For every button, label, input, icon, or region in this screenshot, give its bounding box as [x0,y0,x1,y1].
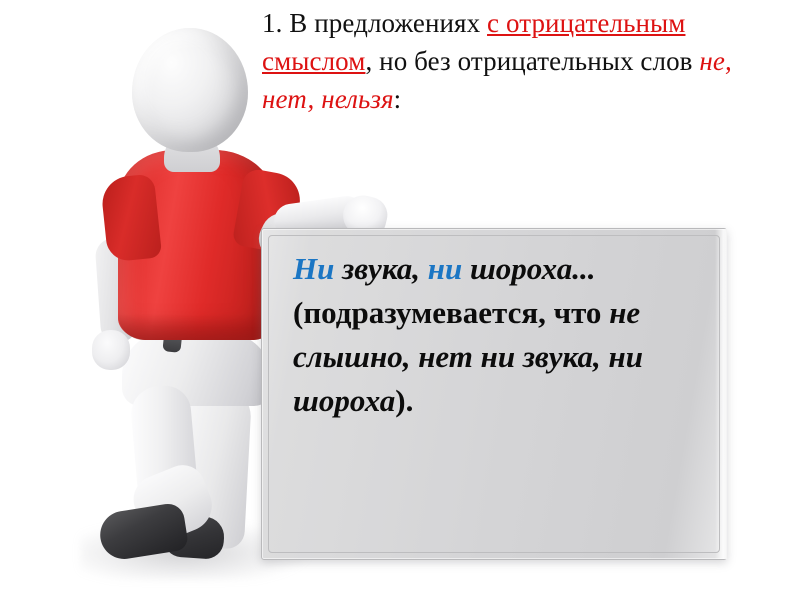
whiteboard-example-text: Ни звука, ни шороха... (подразумевается,… [293,247,693,423]
heading-text-part2: , но без отрицательных слов [365,46,699,76]
heading-list-number: 1. [262,8,282,38]
figure-head [132,28,248,152]
board-text-1: звука, [334,251,427,286]
figure-tshirt-hem [118,314,276,340]
board-blue-word-1: Ни [293,251,334,286]
board-blue-word-2: ни [428,251,462,286]
whiteboard-panel: Ни звука, ни шороха... (подразумевается,… [261,228,727,560]
board-text-3: (подразумевается, что [293,295,609,330]
board-text-2: шороха... [462,251,595,286]
heading-paragraph: 1. В предложениях с отрицательным смысло… [262,4,782,118]
slide-canvas: 1. В предложениях с отрицательным смысло… [0,0,800,600]
heading-colon: : [394,84,402,114]
figure-left-sleeve [100,173,162,262]
whiteboard-right-highlight [715,229,727,559]
figure-left-hand [92,330,130,370]
heading-text-part1: В предложениях [282,8,487,38]
board-text-4: ). [395,383,413,418]
